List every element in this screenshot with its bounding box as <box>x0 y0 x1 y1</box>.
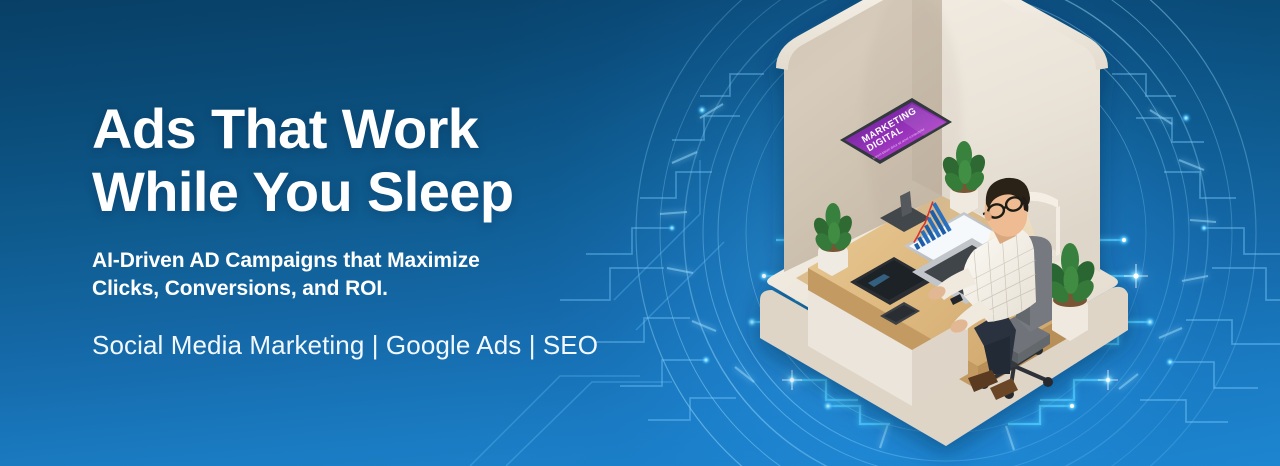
isometric-workspace-illustration: MARKETING DIGITAL Lorem ipsum dolor sit … <box>612 0 1280 466</box>
cubicle-group: MARKETING DIGITAL Lorem ipsum dolor sit … <box>760 0 1128 446</box>
hero-subheadline: AI-Driven AD Campaigns that Maximize Cli… <box>92 247 652 303</box>
hero-copy-block: Ads That Work While You Sleep AI-Driven … <box>92 98 652 362</box>
hero-banner: Ads That Work While You Sleep AI-Driven … <box>0 0 1280 466</box>
hero-services-list: Social Media Marketing | Google Ads | SE… <box>92 329 652 362</box>
page-title: Ads That Work While You Sleep <box>92 98 652 223</box>
